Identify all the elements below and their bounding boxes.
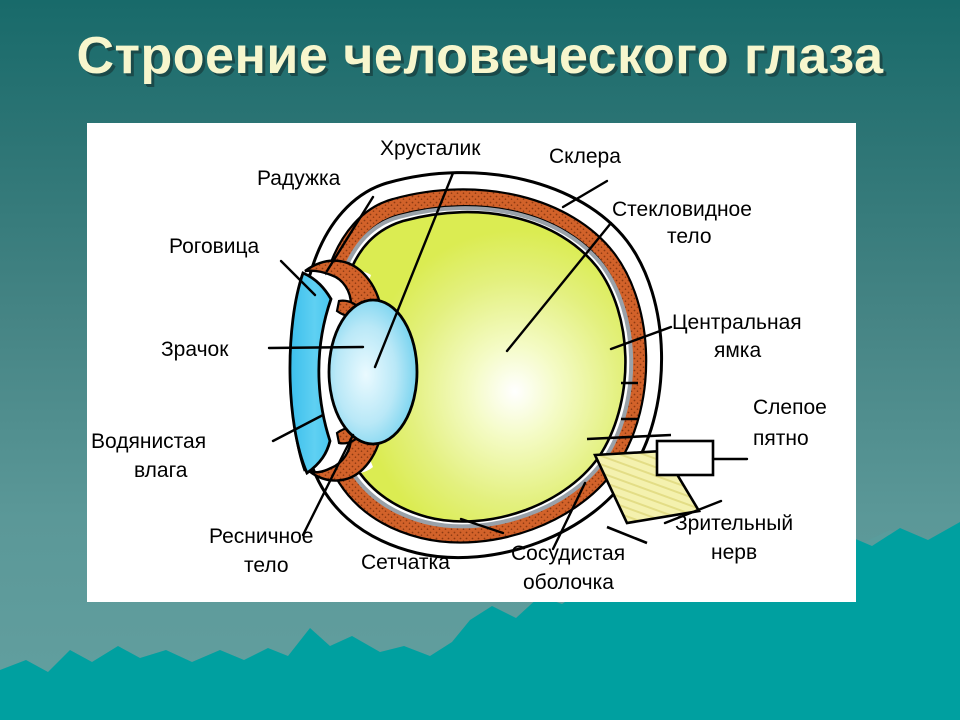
leader-pupil [269, 347, 363, 348]
label-optic-nerve-line1: Зрительный [675, 512, 793, 535]
label-fovea-line2: ямка [714, 339, 761, 362]
label-sclera: Склера [549, 145, 621, 168]
label-vitreous-line2: тело [667, 225, 712, 248]
label-aqueous-line2: влага [134, 459, 188, 482]
label-lens: Хрусталик [380, 137, 481, 160]
label-blind-spot-line2: пятно [753, 427, 809, 450]
label-retina: Сетчатка [361, 551, 450, 574]
label-aqueous-line1: Водянистая [91, 430, 206, 453]
lens-shape [329, 300, 417, 444]
label-pupil: Зрачок [161, 338, 229, 361]
label-cornea: Роговица [169, 235, 260, 258]
label-choroid-line2: оболочка [523, 571, 614, 594]
label-iris: Радужка [257, 167, 341, 190]
label-optic-nerve-line2: нерв [711, 541, 757, 564]
label-ciliary-line1: Ресничное [209, 525, 314, 548]
diagram-panel: Хрусталик Склера Стекловидное тело Радуж… [87, 123, 856, 602]
label-fovea-line1: Центральная [672, 311, 802, 334]
blind-spot-box [657, 441, 713, 475]
presentation-slide: Строение человеческого глаза [0, 0, 960, 720]
eye-diagram: Хрусталик Склера Стекловидное тело Радуж… [87, 123, 856, 602]
label-vitreous-line1: Стекловидное [612, 198, 752, 221]
label-ciliary-line2: тело [244, 554, 289, 577]
label-blind-spot-line1: Слепое [753, 396, 827, 419]
page-title: Строение человеческого глаза [0, 26, 960, 86]
label-choroid-line1: Сосудистая [511, 542, 625, 565]
